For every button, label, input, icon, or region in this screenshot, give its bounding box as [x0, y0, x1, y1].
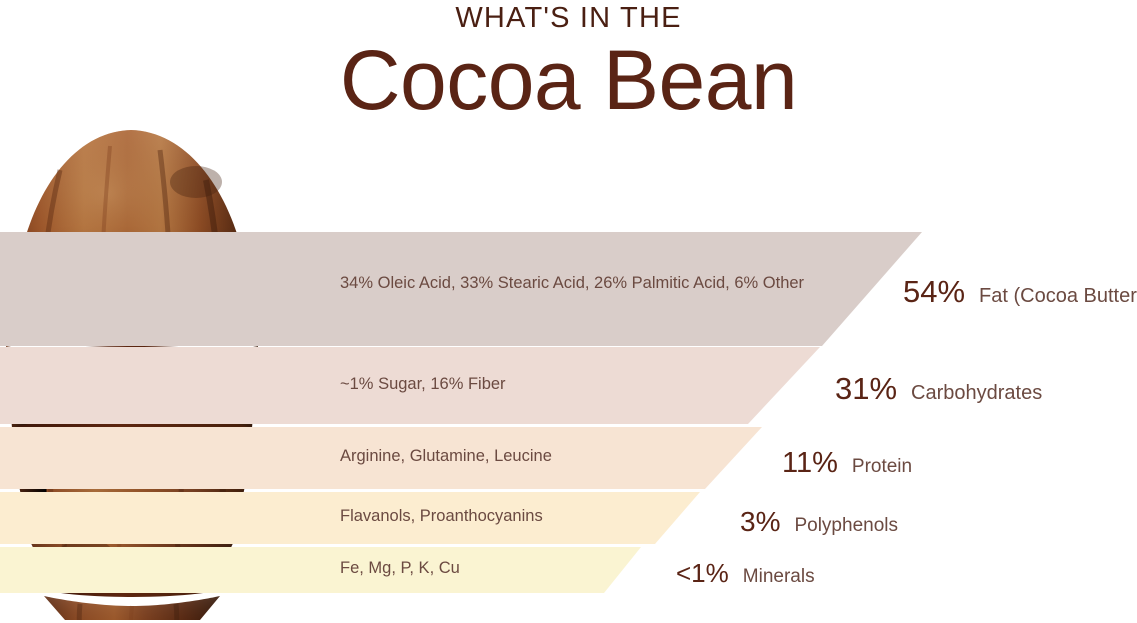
row-name-carbohydrates: Carbohydrates — [911, 382, 1042, 405]
row-percent-minerals: <1% — [676, 558, 729, 589]
row-name-minerals: Minerals — [743, 566, 815, 588]
row-name-polyphenols: Polyphenols — [794, 515, 898, 537]
row-percent-protein: 11% — [782, 447, 838, 480]
infographic-canvas: WHAT'S IN THE Cocoa Bean — [0, 0, 1137, 623]
band-detail-polyphenols: Flavanols, Proanthocyanins — [340, 507, 543, 526]
band-protein: Arginine, Glutamine, Leucine — [0, 427, 780, 493]
band-detail-protein: Arginine, Glutamine, Leucine — [340, 447, 552, 466]
row-label-minerals: <1% Minerals — [676, 558, 815, 589]
band-fat: 34% Oleic Acid, 33% Stearic Acid, 26% Pa… — [0, 232, 930, 350]
row-percent-carbohydrates: 31% — [835, 371, 897, 407]
band-polyphenols: Flavanols, Proanthocyanins — [0, 492, 720, 548]
row-label-carbohydrates: 31% Carbohydrates — [835, 371, 1042, 407]
row-label-polyphenols: 3% Polyphenols — [740, 506, 898, 538]
row-label-fat: 54% Fat (Cocoa Butter) — [903, 274, 1137, 310]
band-detail-minerals: Fe, Mg, P, K, Cu — [340, 559, 460, 578]
composition-bands: 34% Oleic Acid, 33% Stearic Acid, 26% Pa… — [0, 0, 1137, 623]
row-name-protein: Protein — [852, 456, 912, 478]
row-label-protein: 11% Protein — [782, 447, 912, 480]
band-carbohydrates: ~1% Sugar, 16% Fiber — [0, 347, 830, 427]
row-percent-fat: 54% — [903, 274, 965, 310]
band-minerals: Fe, Mg, P, K, Cu — [0, 547, 660, 597]
band-detail-fat: 34% Oleic Acid, 33% Stearic Acid, 26% Pa… — [340, 274, 804, 293]
row-percent-polyphenols: 3% — [740, 506, 780, 538]
band-detail-carbohydrates: ~1% Sugar, 16% Fiber — [340, 375, 506, 394]
band-shape-minerals — [0, 547, 660, 597]
row-name-fat: Fat (Cocoa Butter) — [979, 285, 1137, 308]
